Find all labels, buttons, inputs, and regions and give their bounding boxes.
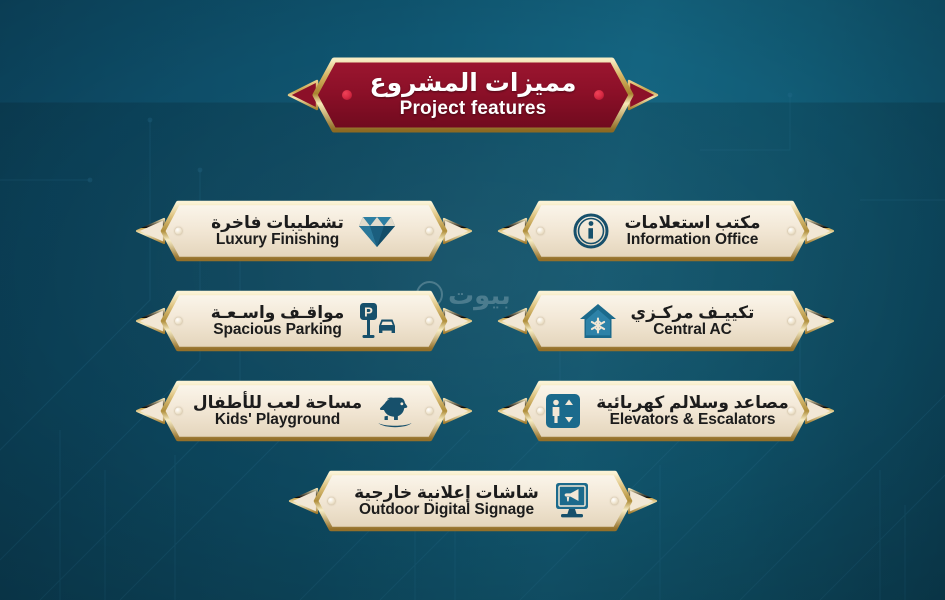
feature-banner-luxury-finishing[interactable]: تشطيبات فاخرة Luxury Finishing [160,200,448,262]
header-decor-dot-left [342,90,352,100]
header-title-arabic: مميزات المشروع [370,70,577,96]
banner-decor-dot-left [537,318,544,325]
feature-banner-elevators-escalators[interactable]: مصاعد وسلالم كهربائية Elevators & Escala… [522,380,810,442]
banner-decor-dot-right [611,498,618,505]
feature-label-english: Kids' Playground [215,412,340,428]
banner-decor-dot-right [788,318,795,325]
banner-decor-dot-right [788,228,795,235]
feature-label-arabic: تشطيبات فاخرة [211,214,344,231]
svg-text:P: P [364,304,373,319]
banner-decor-dot-left [175,228,182,235]
feature-label-arabic: مصاعد وسلالم كهربائية [596,394,789,411]
diamond-icon [357,211,397,251]
banner-decor-dot-right [426,408,433,415]
rocking-horse-icon [375,391,415,431]
feature-label-arabic: شاشات إعلانية خارجية [354,484,539,501]
feature-label-english: Outdoor Digital Signage [359,502,534,518]
banner-decor-dot-right [426,228,433,235]
parking-car-icon: P [357,301,397,341]
header-title-english: Project features [400,99,547,120]
banner-decor-dot-right [426,318,433,325]
project-features-infographic: بيوت [0,0,945,600]
feature-label-english: Central AC [653,322,732,338]
information-icon [571,211,611,251]
feature-banner-kids-playground[interactable]: مساحة لعب للأطفال Kids' Playground [160,380,448,442]
feature-label-english: Luxury Finishing [216,232,339,248]
feature-label-arabic: مواقـف واسـعـة [211,304,345,321]
feature-label-english: Elevators & Escalators [610,412,776,428]
house-snowflake-icon [578,301,618,341]
feature-banner-information-office[interactable]: مكتب استعلامات Information Office [522,200,810,262]
feature-label-english: Information Office [627,232,759,248]
banner-decor-dot-left [175,318,182,325]
feature-banner-outdoor-digital-signage[interactable]: شاشات إعلانية خارجية Outdoor Digital Sig… [313,470,633,532]
feature-banner-spacious-parking[interactable]: مواقـف واسـعـة Spacious Parking P [160,290,448,352]
feature-label-english: Spacious Parking [213,322,341,338]
banner-decor-dot-left [537,228,544,235]
feature-label-arabic: تكييـف مركـزي [631,304,755,321]
header-decor-dot-right [594,90,604,100]
feature-label-arabic: مساحة لعب للأطفال [193,394,362,411]
feature-banner-central-ac[interactable]: تكييـف مركـزي Central AC [522,290,810,352]
banner-decor-dot-right [788,408,795,415]
feature-label-arabic: مكتب استعلامات [624,214,760,231]
banner-decor-dot-left [537,408,544,415]
elevator-icon [543,391,583,431]
banner-decor-dot-left [175,408,182,415]
digital-signage-icon [552,481,592,521]
header-banner: مميزات المشروع Project features [312,57,634,133]
banner-decor-dot-left [328,498,335,505]
